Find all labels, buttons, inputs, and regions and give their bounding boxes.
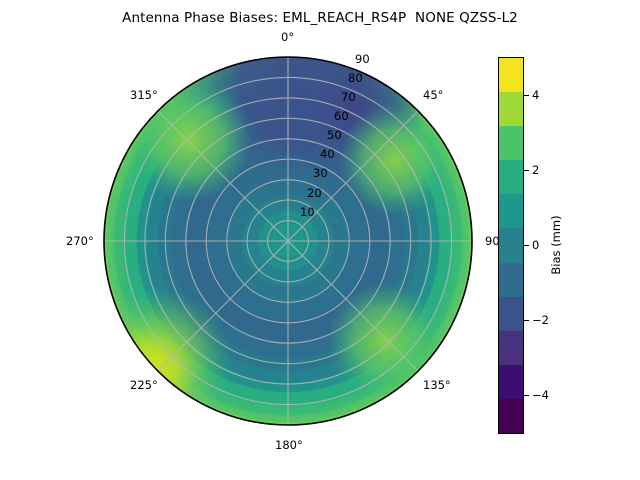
colorbar-tick-neg2 [524,320,529,321]
radial-label-80: 80 [348,71,363,85]
polar-grid [104,57,472,425]
azimuth-label-270: 270° [66,234,94,248]
polar-contour-plot [0,0,640,480]
colorbar-band-3 [499,160,523,194]
colorbar-band-0 [499,58,523,92]
radial-label-20: 20 [307,186,322,200]
azimuth-label-225: 225° [130,378,158,392]
colorbar-label-4: 4 [532,88,539,102]
figure-canvas: Antenna Phase Biases: EML_REACH_RS4P NON… [0,0,640,480]
colorbar-tick-4 [524,95,529,96]
colorbar-band-6 [499,263,523,297]
colorbar-tick-0 [524,245,529,246]
colorbar-band-7 [499,297,523,331]
colorbar-band-2 [499,126,523,160]
colorbar-band-9 [499,365,523,399]
colorbar-label-0: 0 [532,238,539,252]
colorbar-band-10 [499,399,523,433]
colorbar-band-8 [499,331,523,365]
colorbar-axis-label: Bias (mm) [549,215,563,274]
colorbar[interactable]: 4 2 0 −2 −4 [498,57,524,434]
colorbar-tick-2 [524,170,529,171]
radial-label-10: 10 [300,205,315,219]
radial-label-70: 70 [341,90,356,104]
colorbar-band-5 [499,228,523,262]
radial-label-60: 60 [334,109,349,123]
colorbar-label-2: 2 [532,163,539,177]
radial-label-50: 50 [327,128,342,142]
colorbar-band-4 [499,194,523,228]
radial-label-30: 30 [313,166,328,180]
colorbar-tick-neg4 [524,395,529,396]
azimuth-label-180: 180° [275,438,303,452]
radial-label-40: 40 [320,147,335,161]
colorbar-band-1 [499,92,523,126]
radial-label-90: 90 [355,52,370,66]
colorbar-label-neg4: −4 [532,388,549,402]
colorbar-label-neg2: −2 [532,313,549,327]
azimuth-label-315: 315° [130,88,158,102]
azimuth-label-0: 0° [281,30,294,44]
colorbar-gradient [498,57,524,434]
azimuth-label-135: 135° [423,378,451,392]
azimuth-label-45: 45° [423,88,443,102]
